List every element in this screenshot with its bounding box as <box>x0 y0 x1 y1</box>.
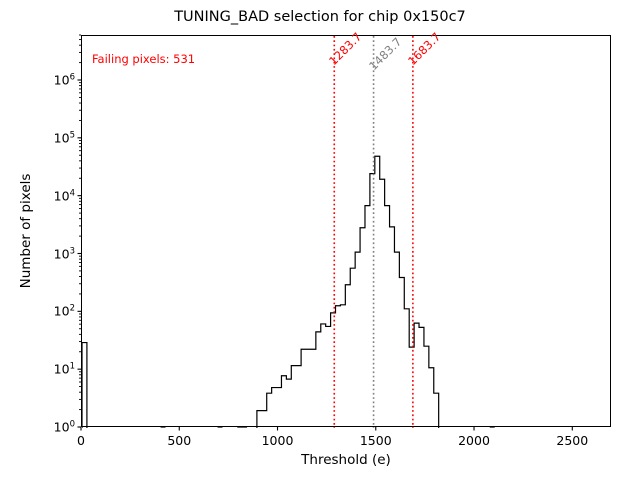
histogram-step-outline <box>82 156 495 428</box>
y-tick-exponent: 0 <box>70 419 75 429</box>
histogram-plot <box>82 36 612 428</box>
x-tick-label: 500 <box>167 433 191 448</box>
failing-pixels-annotation: Failing pixels: 531 <box>92 52 195 66</box>
y-axis-label: Number of pixels <box>18 35 34 427</box>
y-tick-exponent: 1 <box>70 362 75 372</box>
y-tick-mantissa: 10 <box>54 362 70 377</box>
y-tick-mantissa: 10 <box>54 188 70 203</box>
y-tick-exponent: 2 <box>70 304 75 314</box>
x-tick-label: 2000 <box>458 433 490 448</box>
y-tick-mantissa: 10 <box>54 73 70 88</box>
y-tick-exponent: 3 <box>70 246 75 256</box>
y-tick-mantissa: 10 <box>54 304 70 319</box>
plot-area: Failing pixels: 531 1283.71483.71683.7 <box>81 35 611 427</box>
y-tick-mantissa: 10 <box>54 130 70 145</box>
x-tick-label: 0 <box>77 433 85 448</box>
y-tick-exponent: 4 <box>70 188 75 198</box>
x-axis-label: Threshold (e) <box>81 452 611 468</box>
chart-title: TUNING_BAD selection for chip 0x150c7 <box>0 9 640 25</box>
x-tick-label: 1500 <box>360 433 392 448</box>
y-tick-mantissa: 10 <box>54 420 70 435</box>
x-tick-label: 1000 <box>262 433 294 448</box>
chart-figure: TUNING_BAD selection for chip 0x150c7 Fa… <box>0 0 640 480</box>
y-tick-exponent: 5 <box>70 130 75 140</box>
y-tick-exponent: 6 <box>70 72 75 82</box>
x-tick-label: 2500 <box>556 433 588 448</box>
y-tick-mantissa: 10 <box>54 246 70 261</box>
